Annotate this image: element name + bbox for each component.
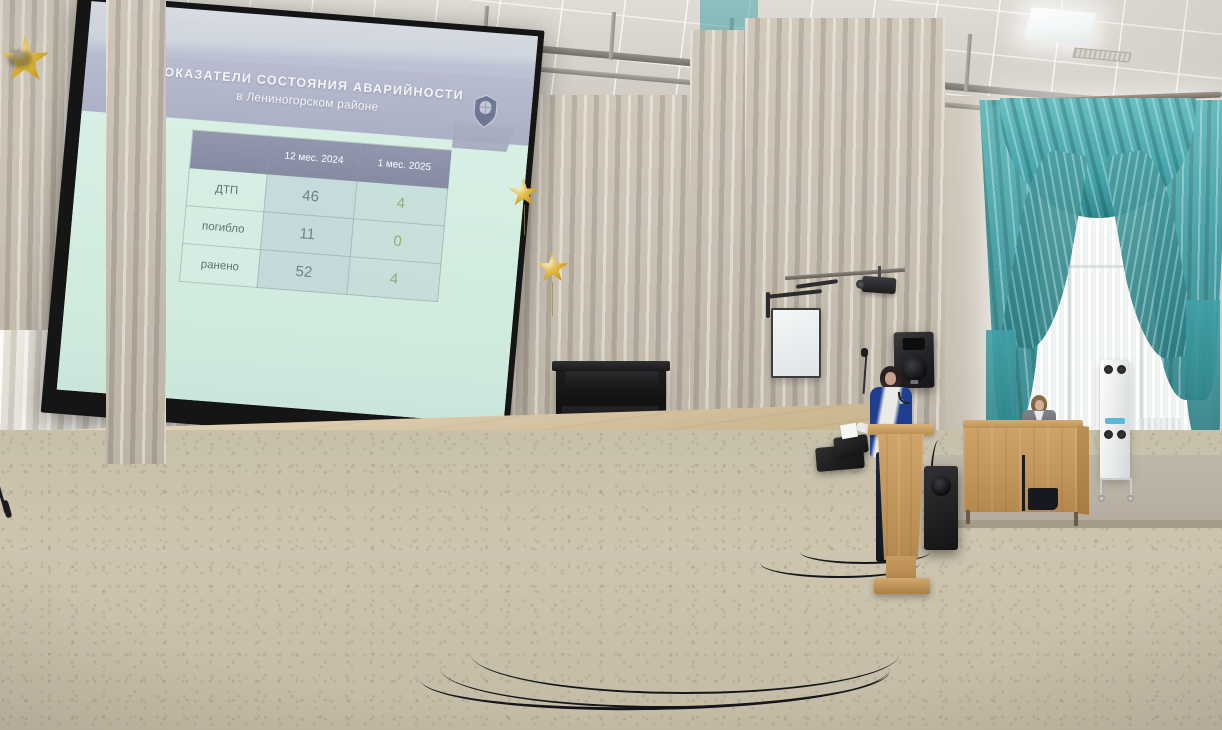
projector-lens (856, 279, 866, 289)
purifier-outlet-vent (1117, 430, 1126, 439)
beige-pleated-curtain-left-inner (106, 0, 166, 464)
subwoofer-cabinet (924, 466, 958, 550)
trolley-frame (1130, 478, 1132, 496)
piano-lid (552, 361, 670, 371)
accident-statistics-table: 12 мес. 2024 1 мес. 2025 ДТП 46 4 погибл… (179, 129, 452, 302)
presenter-face (885, 372, 896, 385)
wall-mounted-whiteboard (771, 308, 821, 378)
beige-pleated-curtain-right (745, 18, 945, 468)
purifier-intake-vent (1117, 365, 1126, 374)
piano-music-desk (566, 371, 658, 391)
ceiling-projector (861, 276, 896, 294)
cell-raneno-2024: 52 (257, 250, 351, 295)
gibdd-emblem (470, 93, 501, 129)
row-label-raneno: ранено (179, 243, 260, 287)
podium-base (874, 578, 930, 594)
balloon-shadow (8, 50, 32, 68)
trolley-frame (1100, 478, 1102, 496)
desk-side-panel (1077, 425, 1089, 515)
speaker-horn (903, 338, 925, 350)
row-label-pogiblo: погибло (183, 206, 264, 250)
trolley-caster (1127, 495, 1134, 502)
podium-microphone (861, 348, 868, 357)
row-label-dtp: ДТП (186, 168, 267, 212)
seated-official-legs (1028, 488, 1058, 510)
assembly-hall-photo: ПОКАЗАТЕЛИ СОСТОЯНИЯ АВАРИЙНОСТИ в Ленин… (0, 0, 1222, 730)
purifier-outlet-vent (1104, 430, 1113, 439)
balloon-string (552, 282, 553, 316)
table-corner-cell (189, 130, 270, 174)
trolley-frame (1100, 478, 1132, 480)
desk-leg (966, 510, 970, 524)
speaker-badge (910, 380, 918, 384)
black-floor-cable (470, 612, 900, 694)
presenter-notes-paper (840, 423, 858, 440)
mobile-air-recirculator (1100, 360, 1130, 480)
desk-leg (1074, 512, 1078, 526)
trolley-caster (1098, 495, 1105, 502)
teal-curtain-tail-right (1186, 300, 1220, 450)
beige-pleated-curtain-right-narrow (690, 30, 752, 460)
chair-leg (1022, 455, 1025, 511)
cell-raneno-2025: 4 (347, 257, 441, 302)
purifier-intake-vent (1104, 365, 1113, 374)
recessed-light-panel (1024, 7, 1097, 45)
subwoofer-cone (931, 476, 951, 496)
speaker-woofer (901, 356, 927, 382)
purifier-trolley (1098, 478, 1134, 504)
podium-lectern-top (868, 424, 934, 435)
purifier-control-panel (1105, 418, 1125, 424)
balloon-string (524, 205, 525, 235)
